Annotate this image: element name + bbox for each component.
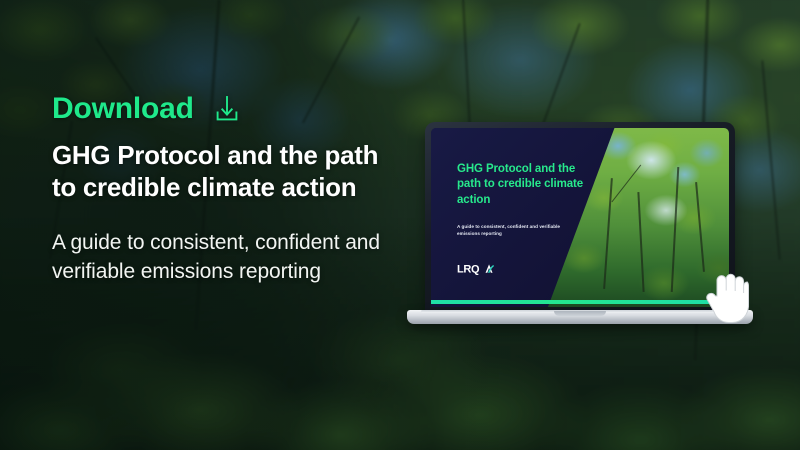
page-title: GHG Protocol and the path to credible cl…: [52, 140, 402, 203]
screen-title: GHG Protocol and the path to credible cl…: [457, 162, 597, 208]
download-row[interactable]: Download: [52, 94, 402, 124]
screen-accent-bar: [431, 300, 729, 304]
screen-subtitle: A guide to consistent, confident and ver…: [457, 224, 567, 238]
pointing-hand-cursor[interactable]: [703, 270, 749, 328]
download-label: Download: [52, 94, 194, 124]
copy-block: Download GHG Protocol and the path to cr…: [52, 94, 402, 287]
laptop-base-notch: [554, 311, 606, 316]
laptop-base: [407, 310, 753, 324]
laptop-lid: GHG Protocol and the path to credible cl…: [425, 122, 735, 312]
lrqa-logo: LRQ: [457, 262, 501, 281]
banner-stage: Download GHG Protocol and the path to cr…: [0, 0, 800, 450]
laptop-screen[interactable]: GHG Protocol and the path to credible cl…: [431, 128, 729, 307]
laptop-mockup: GHG Protocol and the path to credible cl…: [407, 122, 753, 324]
svg-text:LRQ: LRQ: [457, 263, 480, 275]
download-arrow-tray-icon[interactable]: [212, 94, 242, 124]
page-subheading: A guide to consistent, confident and ver…: [52, 229, 402, 287]
